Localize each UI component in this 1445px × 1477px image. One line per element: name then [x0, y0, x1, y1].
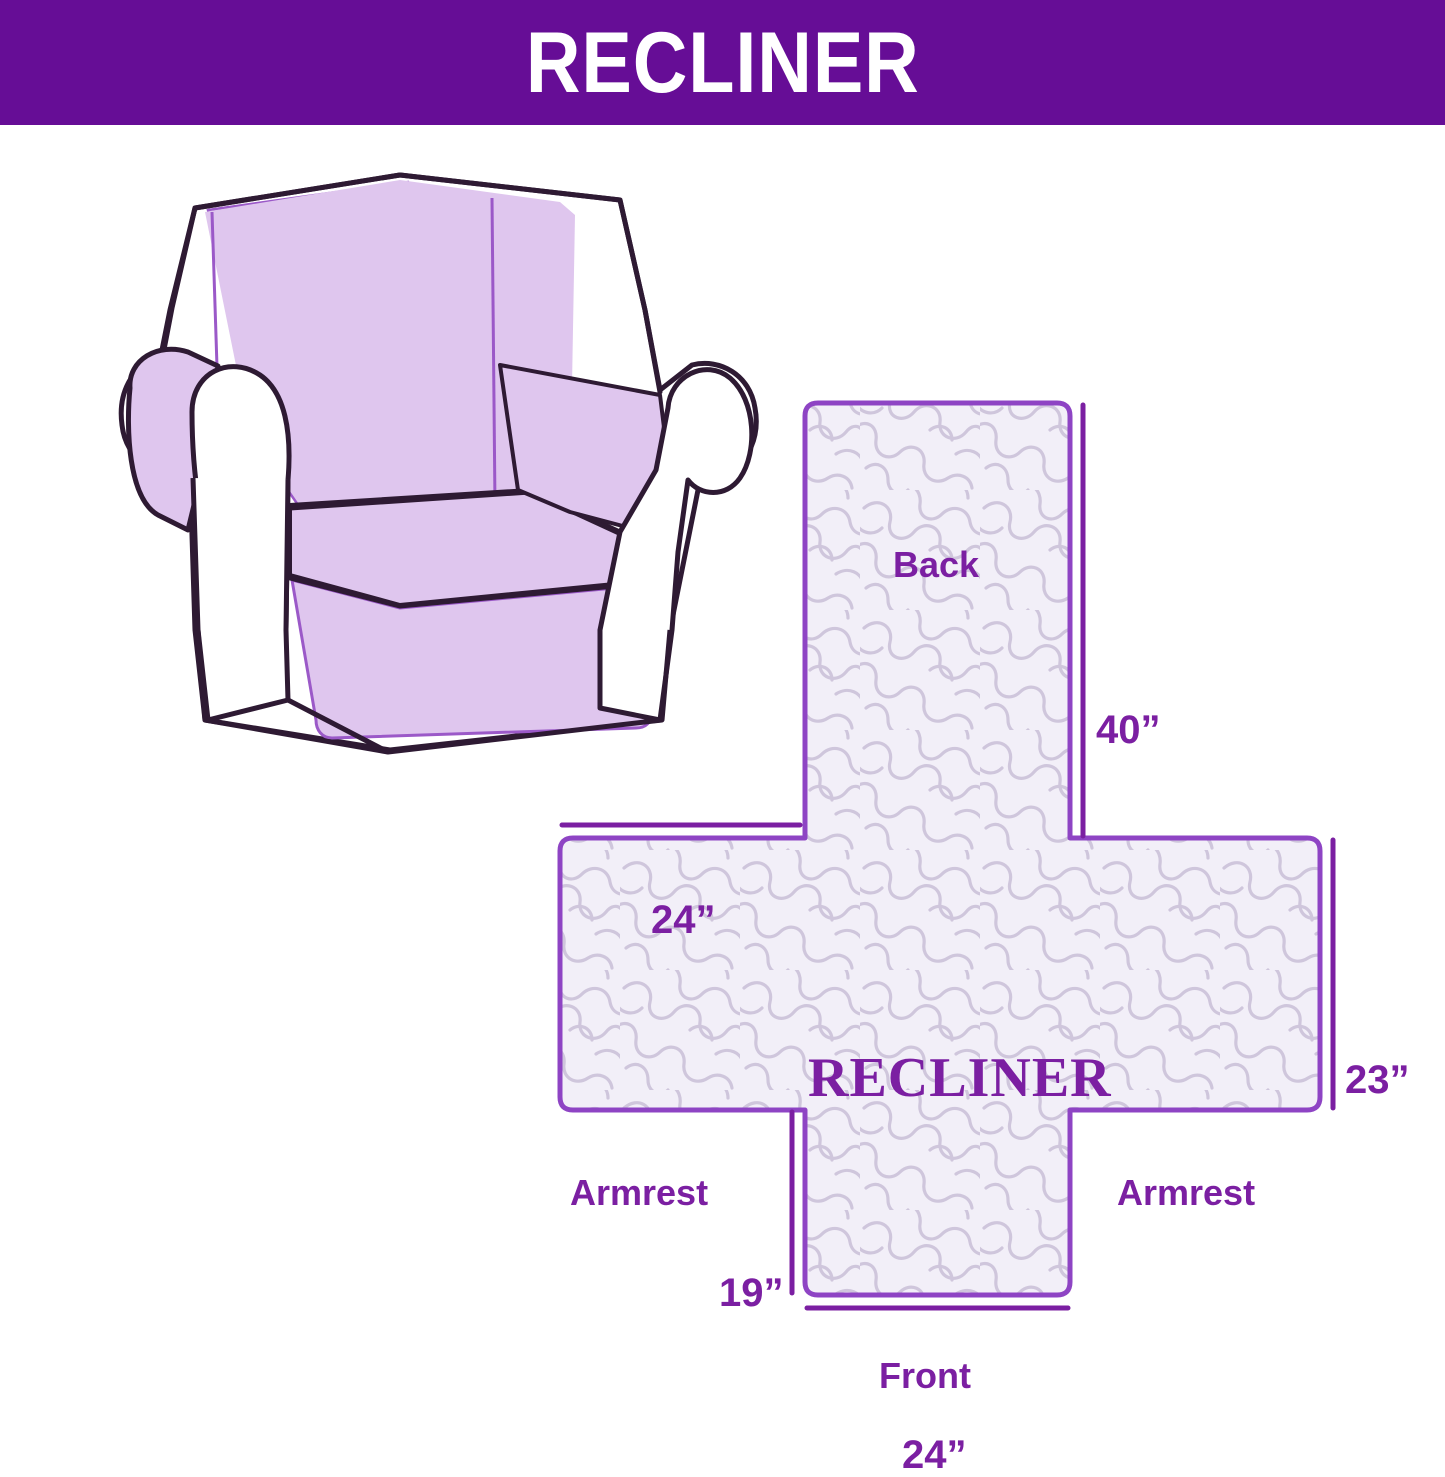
diagram-stage: Back 40” 24” RECLINER 23” Armrest Armres… — [0, 125, 1445, 1445]
panel-label-armrest-left: Armrest — [570, 1175, 708, 1211]
dimension-label-23in: 23” — [1345, 1060, 1410, 1100]
header-banner: RECLINER — [0, 0, 1445, 125]
page-title: RECLINER — [526, 20, 920, 106]
panel-label-back: Back — [893, 547, 979, 583]
dimension-label-24in-top: 24” — [651, 900, 716, 940]
panel-label-front: Front — [879, 1358, 971, 1394]
dimension-label-40in: 40” — [1096, 710, 1161, 750]
cover-cross-shape — [560, 403, 1320, 1295]
panel-label-armrest-right: Armrest — [1117, 1175, 1255, 1211]
dimension-label-24in-bottom: 24” — [902, 1435, 967, 1475]
cover-pattern-diagram — [500, 370, 1445, 1430]
chair-left-arm-front — [193, 478, 288, 720]
pattern-center-label: RECLINER — [808, 1050, 1112, 1106]
dimension-label-19in: 19” — [719, 1273, 784, 1313]
